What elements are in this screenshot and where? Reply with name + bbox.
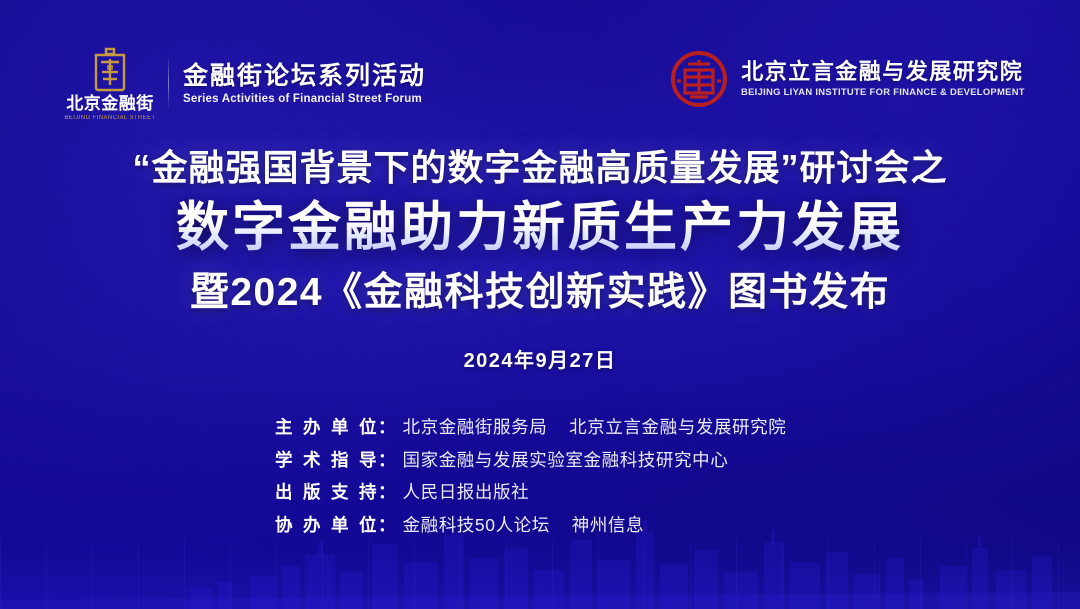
poster-main-title: 数字金融助力新质生产力发展 (0, 195, 1080, 261)
poster-titles: “金融强国背景下的数字金融高质量发展”研讨会之 数字金融助力新质生产力发展 暨2… (0, 146, 1080, 373)
financial-street-mark: 北京金融街 BEIJING FINANCIAL STREET (62, 46, 164, 121)
liyan-institute-logo: 北京立言金融与发展研究院 BEIJING LIYAN INSTITUTE FOR… (670, 50, 1028, 108)
forum-title-cn: 金融街论坛系列活动 (183, 62, 426, 91)
credit-value: 人民日报出版社 (403, 481, 530, 505)
credit-label: 主办单位 (275, 416, 377, 440)
financial-street-forum-logo: 北京金融街 BEIJING FINANCIAL STREET 金融街论坛系列活动… (62, 46, 426, 121)
conference-poster: 北京金融街 BEIJING FINANCIAL STREET 金融街论坛系列活动… (0, 0, 1080, 609)
logo-divider (168, 55, 169, 111)
credit-colon: ： (378, 416, 396, 440)
credit-label: 协办单位 (275, 514, 377, 538)
credit-row: 学术指导 ： 国家金融与发展实验室金融科技研究中心 (275, 449, 805, 473)
credit-row: 协办单位 ： 金融科技50人论坛 神州信息 (275, 514, 805, 538)
liyan-title-cn: 北京立言金融与发展研究院 (741, 60, 1028, 84)
poster-subtitle-bottom: 暨2024《金融科技创新实践》图书发布 (0, 269, 1080, 318)
credit-colon: ： (378, 449, 396, 473)
financial-street-mark-cn: 北京金融街 (62, 95, 158, 113)
financial-street-titles: 金融街论坛系列活动 Series Activities of Financial… (181, 62, 426, 105)
credit-row: 主办单位 ： 北京金融街服务局 北京立言金融与发展研究院 (275, 416, 805, 440)
forum-title-en: Series Activities of Financial Street Fo… (183, 93, 426, 105)
background-grid-lines (0, 539, 1080, 609)
credit-value: 金融科技50人论坛 神州信息 (403, 514, 645, 538)
liyan-title-en: BEIJING LIYAN INSTITUTE FOR FINANCE & DE… (741, 87, 1025, 98)
financial-street-seal-icon (88, 46, 132, 92)
event-date: 2024年9月27日 (0, 344, 1080, 373)
logo-row: 北京金融街 BEIJING FINANCIAL STREET 金融街论坛系列活动… (0, 40, 1080, 130)
credit-label: 出版支持 (275, 481, 377, 505)
liyan-round-seal-icon (670, 50, 728, 108)
credit-value: 北京金融街服务局 北京立言金融与发展研究院 (403, 416, 787, 440)
financial-street-mark-en: BEIJING FINANCIAL STREET (64, 115, 155, 121)
liyan-institute-titles: 北京立言金融与发展研究院 BEIJING LIYAN INSTITUTE FOR… (741, 60, 1028, 98)
credit-colon: ： (378, 481, 396, 505)
poster-subtitle-top: “金融强国背景下的数字金融高质量发展”研讨会之 (0, 146, 1080, 189)
credits-block: 主办单位 ： 北京金融街服务局 北京立言金融与发展研究院 学术指导 ： 国家金融… (0, 416, 1080, 547)
credit-colon: ： (378, 514, 396, 538)
credit-value: 国家金融与发展实验室金融科技研究中心 (403, 449, 729, 473)
credit-row: 出版支持 ： 人民日报出版社 (275, 481, 805, 505)
credit-label: 学术指导 (275, 449, 377, 473)
